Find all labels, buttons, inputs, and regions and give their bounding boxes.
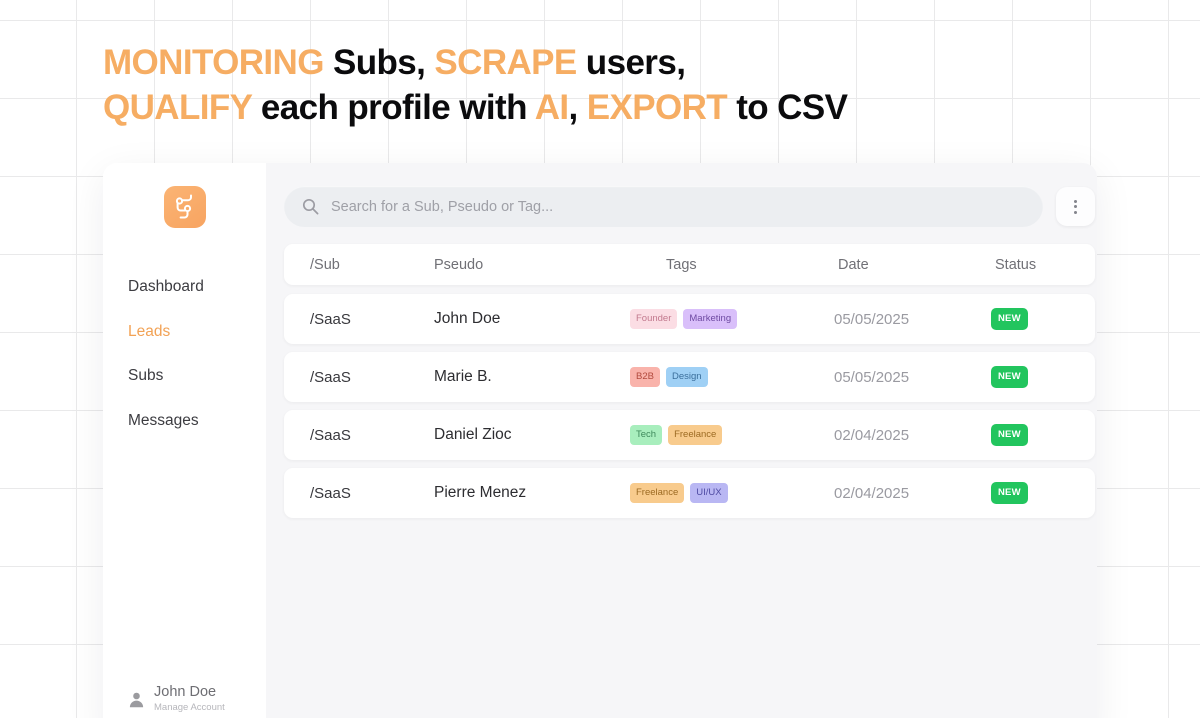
sidebar-item-subs[interactable]: Subs — [128, 365, 266, 387]
app-logo[interactable] — [164, 186, 206, 228]
status-badge: NEW — [991, 424, 1028, 446]
tag-badge[interactable]: Tech — [630, 425, 662, 445]
cell-date: 05/05/2025 — [810, 311, 985, 328]
cell-pseudo: Pierre Menez — [434, 484, 630, 502]
cell-pseudo: Daniel Zioc — [434, 426, 630, 444]
cell-date: 02/04/2025 — [810, 485, 985, 502]
headline-segment: to CSV — [727, 88, 847, 127]
table-row[interactable]: /SaaSMarie B.B2BDesign05/05/2025NEW — [284, 352, 1095, 402]
topbar — [284, 186, 1095, 227]
cell-sub: /SaaS — [284, 311, 434, 328]
tag-badge[interactable]: Founder — [630, 309, 677, 329]
sidebar: Dashboard Leads Subs Messages John Doe M… — [103, 163, 266, 718]
cell-tags: B2BDesign — [630, 367, 810, 387]
cell-pseudo: Marie B. — [434, 368, 630, 386]
headline-segment: each profile with — [252, 88, 535, 127]
column-header-pseudo: Pseudo — [434, 257, 630, 273]
search-icon — [302, 198, 319, 215]
cell-date: 05/05/2025 — [810, 369, 985, 386]
sidebar-item-dashboard[interactable]: Dashboard — [128, 276, 266, 298]
table-row[interactable]: /SaaSDaniel ZiocTechFreelance02/04/2025N… — [284, 410, 1095, 460]
tag-badge[interactable]: Freelance — [668, 425, 722, 445]
headline-segment: AI — [535, 88, 569, 127]
cell-tags: TechFreelance — [630, 425, 810, 445]
table-body: /SaaSJohn DoeFounderMarketing05/05/2025N… — [284, 294, 1095, 518]
status-badge: NEW — [991, 366, 1028, 388]
cell-sub: /SaaS — [284, 427, 434, 444]
headline-segment: QUALIFY — [103, 88, 252, 127]
headline-segment: MONITORING — [103, 43, 324, 82]
headline-segment: EXPORT — [587, 88, 727, 127]
status-badge: NEW — [991, 482, 1028, 504]
column-header-tags: Tags — [630, 257, 810, 273]
table-header-row: /Sub Pseudo Tags Date Status — [284, 244, 1095, 285]
account-name: John Doe — [154, 684, 225, 701]
search-bar[interactable] — [284, 186, 1043, 227]
main-content: /Sub Pseudo Tags Date Status /SaaSJohn D… — [266, 163, 1097, 718]
headline-segment: , — [569, 88, 587, 127]
sidebar-item-leads[interactable]: Leads — [128, 321, 266, 343]
cell-tags: FounderMarketing — [630, 309, 810, 329]
circuit-node-logo-icon — [172, 194, 198, 220]
column-header-status: Status — [985, 257, 1095, 273]
cell-sub: /SaaS — [284, 485, 434, 502]
tag-badge[interactable]: Design — [666, 367, 708, 387]
tag-badge[interactable]: Freelance — [630, 483, 684, 503]
tag-badge[interactable]: UI/UX — [690, 483, 727, 503]
sidebar-item-messages[interactable]: Messages — [128, 410, 266, 432]
tag-badge[interactable]: Marketing — [683, 309, 737, 329]
column-header-date: Date — [810, 257, 985, 273]
account-footer[interactable]: John Doe Manage Account — [128, 684, 225, 714]
headline-segment: SCRAPE — [434, 43, 576, 82]
column-header-sub: /Sub — [284, 257, 434, 273]
cell-status: NEW — [985, 308, 1095, 330]
table-row[interactable]: /SaaSJohn DoeFounderMarketing05/05/2025N… — [284, 294, 1095, 344]
sidebar-nav: Dashboard Leads Subs Messages — [103, 276, 266, 432]
search-input[interactable] — [331, 199, 1025, 215]
table-row[interactable]: /SaaSPierre MenezFreelanceUI/UX02/04/202… — [284, 468, 1095, 518]
account-subtitle: Manage Account — [154, 701, 225, 714]
cell-date: 02/04/2025 — [810, 427, 985, 444]
headline-segment: users, — [577, 43, 686, 82]
headline-line-2: QUALIFY each profile with AI, EXPORT to … — [103, 85, 847, 130]
cell-status: NEW — [985, 366, 1095, 388]
cell-pseudo: John Doe — [434, 310, 630, 328]
kebab-dots — [1074, 200, 1077, 214]
headline-segment: Subs, — [324, 43, 435, 82]
cell-status: NEW — [985, 424, 1095, 446]
cell-sub: /SaaS — [284, 369, 434, 386]
user-avatar-icon — [128, 691, 145, 708]
cell-tags: FreelanceUI/UX — [630, 483, 810, 503]
cell-status: NEW — [985, 482, 1095, 504]
status-badge: NEW — [991, 308, 1028, 330]
kebab-menu-icon[interactable] — [1056, 187, 1095, 226]
headline-line-1: MONITORING Subs, SCRAPE users, — [103, 40, 847, 85]
tag-badge[interactable]: B2B — [630, 367, 660, 387]
app-window: Dashboard Leads Subs Messages John Doe M… — [103, 163, 1097, 718]
page-headline: MONITORING Subs, SCRAPE users, QUALIFY e… — [103, 40, 847, 130]
